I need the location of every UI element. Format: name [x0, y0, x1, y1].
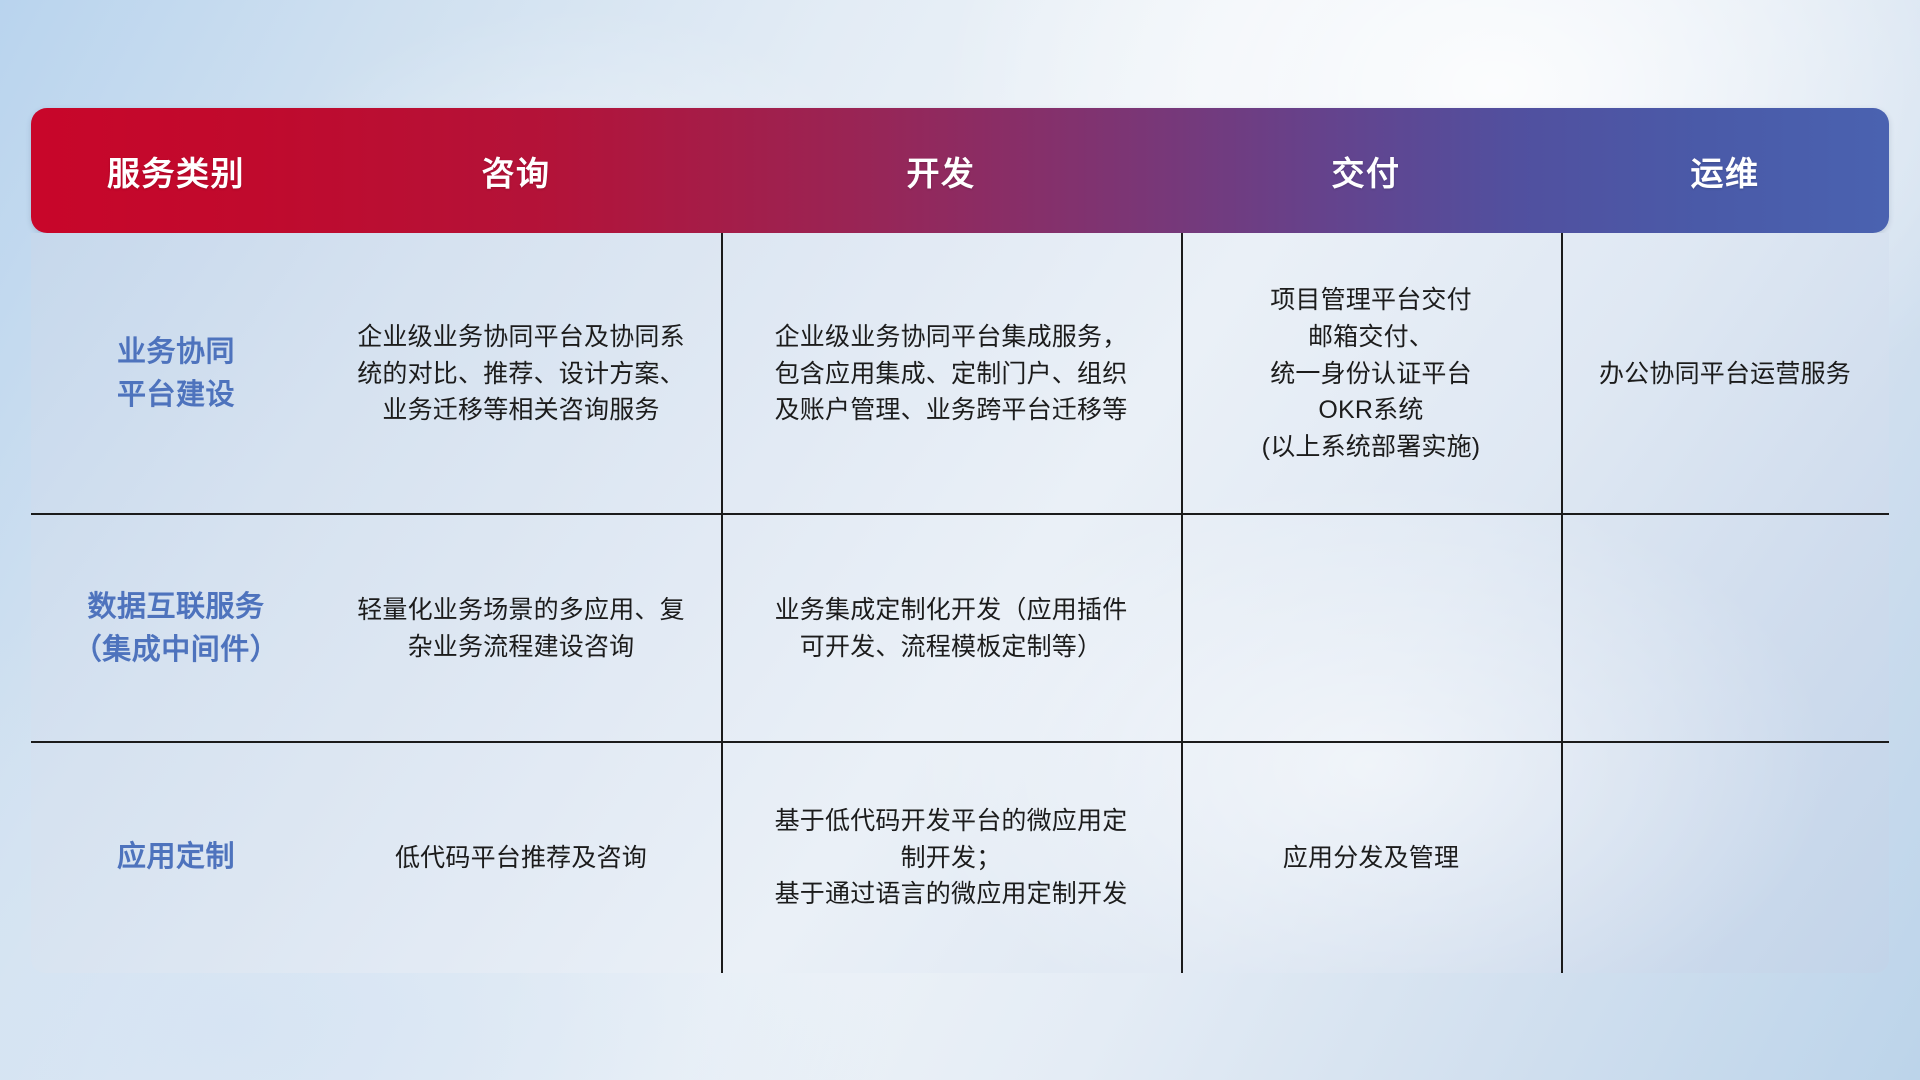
- cell-consulting: 低代码平台推荐及咨询: [321, 743, 721, 973]
- cell-category: 应用定制: [31, 743, 321, 973]
- cell-text: 轻量化业务场景的多应用、复 杂业务流程建设咨询: [357, 592, 685, 666]
- cell-text: 企业级业务协同平台及协同系 统的对比、推荐、设计方案、 业务迁移等相关咨询服务: [357, 319, 685, 429]
- table-row[interactable]: 业务协同 平台建设 企业级业务协同平台及协同系 统的对比、推荐、设计方案、 业务…: [31, 233, 1889, 515]
- cell-development: 基于低代码开发平台的微应用定 制开发； 基于通过语言的微应用定制开发: [721, 743, 1181, 973]
- table-row[interactable]: 应用定制 低代码平台推荐及咨询 基于低代码开发平台的微应用定 制开发； 基于通过…: [31, 743, 1889, 973]
- column-header-delivery[interactable]: 交付: [1171, 108, 1561, 233]
- cell-text: 业务集成定制化开发（应用插件 可开发、流程模板定制等）: [775, 592, 1128, 666]
- table-body: 业务协同 平台建设 企业级业务协同平台及协同系 统的对比、推荐、设计方案、 业务…: [31, 233, 1889, 973]
- cell-text: 办公协同平台运营服务: [1599, 356, 1851, 393]
- cell-consulting: 企业级业务协同平台及协同系 统的对比、推荐、设计方案、 业务迁移等相关咨询服务: [321, 233, 721, 515]
- cell-development: 企业级业务协同平台集成服务， 包含应用集成、定制门户、组织 及账户管理、业务跨平…: [721, 233, 1181, 515]
- cell-text: 基于低代码开发平台的微应用定 制开发； 基于通过语言的微应用定制开发: [775, 803, 1128, 913]
- cell-consulting: 轻量化业务场景的多应用、复 杂业务流程建设咨询: [321, 515, 721, 743]
- cell-text: 应用分发及管理: [1283, 840, 1459, 877]
- column-header-category[interactable]: 服务类别: [31, 108, 321, 233]
- cell-text: 低代码平台推荐及咨询: [395, 840, 647, 877]
- column-header-consulting-label: 咨询: [482, 147, 551, 195]
- cell-operations: [1561, 743, 1889, 973]
- column-header-delivery-label: 交付: [1332, 147, 1401, 195]
- category-label: 数据互联服务 （集成中间件）: [73, 586, 280, 673]
- cell-delivery: 项目管理平台交付 邮箱交付、 统一身份认证平台 OKR系统 (以上系统部署实施): [1181, 233, 1561, 515]
- column-header-operations[interactable]: 运维: [1561, 108, 1889, 233]
- service-matrix-table: 服务类别 咨询 开发 交付 运维 业务协同 平台建设: [31, 108, 1889, 973]
- column-header-development[interactable]: 开发: [711, 108, 1171, 233]
- table-header-row: 服务类别 咨询 开发 交付 运维: [31, 108, 1889, 233]
- cell-operations: 办公协同平台运营服务: [1561, 233, 1889, 515]
- cell-development: 业务集成定制化开发（应用插件 可开发、流程模板定制等）: [721, 515, 1181, 743]
- column-header-consulting[interactable]: 咨询: [321, 108, 711, 233]
- category-label: 业务协同 平台建设: [117, 331, 235, 418]
- cell-operations: [1561, 515, 1889, 743]
- cell-text: 企业级业务协同平台集成服务， 包含应用集成、定制门户、组织 及账户管理、业务跨平…: [775, 319, 1128, 429]
- cell-delivery: [1181, 515, 1561, 743]
- cell-category: 数据互联服务 （集成中间件）: [31, 515, 321, 743]
- cell-delivery: 应用分发及管理: [1181, 743, 1561, 973]
- category-label: 应用定制: [117, 836, 235, 880]
- cell-category: 业务协同 平台建设: [31, 233, 321, 515]
- column-header-category-label: 服务类别: [107, 147, 245, 195]
- table-row[interactable]: 数据互联服务 （集成中间件） 轻量化业务场景的多应用、复 杂业务流程建设咨询 业…: [31, 515, 1889, 743]
- column-header-development-label: 开发: [907, 147, 976, 195]
- column-header-operations-label: 运维: [1691, 147, 1760, 195]
- page-background: 服务类别 咨询 开发 交付 运维 业务协同 平台建设: [0, 0, 1920, 1080]
- cell-text: 项目管理平台交付 邮箱交付、 统一身份认证平台 OKR系统 (以上系统部署实施): [1262, 282, 1481, 466]
